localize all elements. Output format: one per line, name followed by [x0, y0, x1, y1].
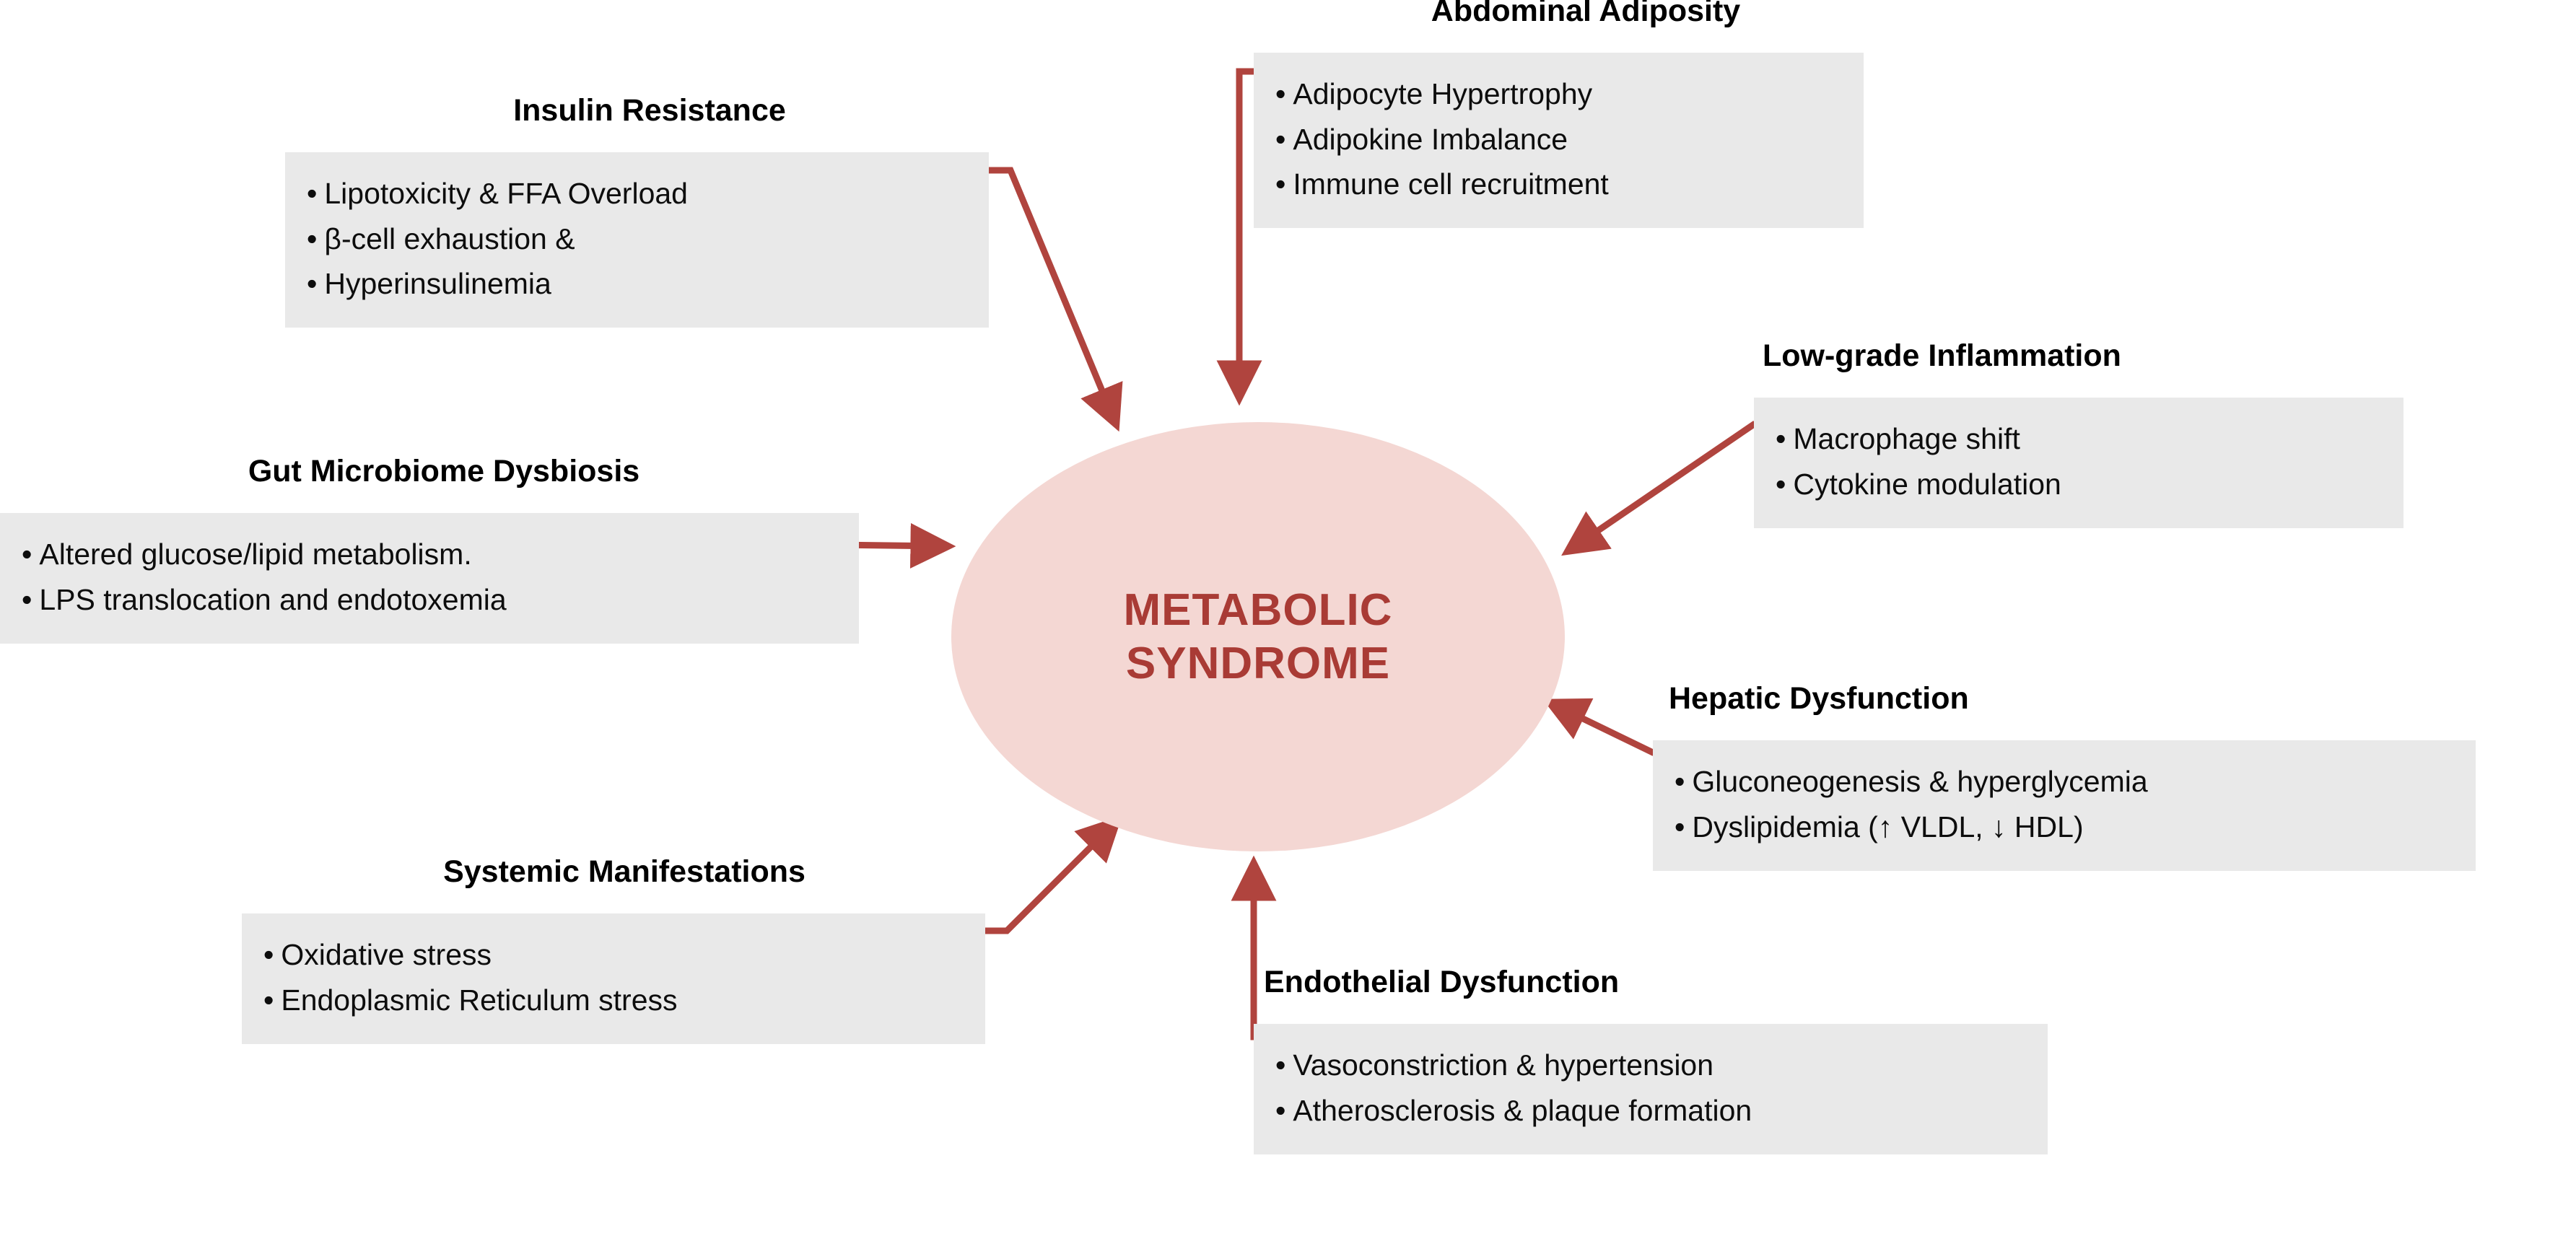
bullet-icon: •	[1675, 810, 1692, 843]
bullet-text: Endoplasmic Reticulum stress	[281, 983, 677, 1017]
bullet-icon: •	[263, 983, 281, 1017]
bullet-icon: •	[1776, 422, 1793, 455]
list-item: •Oxidative stress	[263, 932, 964, 977]
bullet-icon: •	[1275, 123, 1293, 156]
hub-label-line-2: SYNDROME	[1126, 637, 1390, 690]
bullet-icon: •	[1275, 1094, 1293, 1127]
node-box-abdominal-adiposity: •Adipocyte Hypertrophy •Adipokine Imbala…	[1254, 53, 1864, 228]
bullet-icon: •	[1675, 765, 1692, 798]
bullet-text: Cytokine modulation	[1793, 468, 2061, 501]
bullet-text: Immune cell recruitment	[1293, 167, 1608, 201]
list-item: •Cytokine modulation	[1776, 462, 2382, 507]
list-item: •LPS translocation and endotoxemia	[22, 577, 837, 622]
list-item: •Hyperinsulinemia	[307, 261, 967, 306]
diagram-canvas: METABOLIC SYNDROME Insulin Resistance •L…	[0, 0, 2576, 1236]
node-box-hepatic-dysfunction: •Gluconeogenesis & hyperglycemia •Dyslip…	[1653, 740, 2476, 871]
bullet-icon: •	[1776, 468, 1793, 501]
title-rule-spacer-gut-microbiome-dysbiosis	[14, 488, 873, 513]
list-item: •β-cell exhaustion &	[307, 216, 967, 261]
bullet-icon: •	[22, 583, 39, 616]
central-hub-metabolic-syndrome: METABOLIC SYNDROME	[951, 422, 1565, 851]
list-item: •Endoplasmic Reticulum stress	[263, 978, 964, 1022]
bullet-text: Oxidative stress	[281, 938, 492, 971]
bullet-icon: •	[307, 267, 324, 300]
node-insulin-resistance[interactable]: Insulin Resistance •Lipotoxicity & FFA O…	[285, 94, 1014, 328]
bullet-text: Altered glucose/lipid metabolism.	[39, 538, 471, 571]
node-box-insulin-resistance: •Lipotoxicity & FFA Overload •β-cell exh…	[285, 152, 989, 328]
list-item: •Gluconeogenesis & hyperglycemia	[1675, 759, 2454, 804]
node-title-endothelial-dysfunction: Endothelial Dysfunction	[1254, 965, 2062, 999]
list-item: •Adipocyte Hypertrophy	[1275, 71, 1842, 116]
bullet-list-low-grade-inflammation: •Macrophage shift •Cytokine modulation	[1776, 416, 2382, 507]
bullet-text: Adipocyte Hypertrophy	[1293, 77, 1592, 110]
list-item: •Atherosclerosis & plaque formation	[1275, 1088, 2026, 1133]
bullet-icon: •	[1275, 167, 1293, 201]
node-box-systemic-manifestations: •Oxidative stress •Endoplasmic Reticulum…	[242, 913, 985, 1044]
node-gut-microbiome-dysbiosis[interactable]: Gut Microbiome Dysbiosis •Altered glucos…	[14, 455, 873, 644]
node-box-low-grade-inflammation: •Macrophage shift •Cytokine modulation	[1754, 398, 2403, 528]
bullet-list-systemic-manifestations: •Oxidative stress •Endoplasmic Reticulum…	[263, 932, 964, 1022]
node-title-systemic-manifestations: Systemic Manifestations	[242, 855, 1007, 889]
title-rule-spacer-systemic-manifestations	[242, 889, 1007, 913]
bullet-icon: •	[307, 177, 324, 210]
node-title-gut-microbiome-dysbiosis: Gut Microbiome Dysbiosis	[14, 455, 873, 488]
node-systemic-manifestations[interactable]: Systemic Manifestations •Oxidative stres…	[242, 855, 1007, 1044]
title-rule-spacer-endothelial-dysfunction	[1254, 999, 2062, 1024]
title-rule-spacer-low-grade-inflammation	[1754, 373, 2548, 398]
list-item: •Lipotoxicity & FFA Overload	[307, 171, 967, 216]
node-title-insulin-resistance: Insulin Resistance	[285, 94, 1014, 128]
bullet-list-gut-microbiome-dysbiosis: •Altered glucose/lipid metabolism. •LPS …	[22, 532, 837, 622]
bullet-text: Hyperinsulinemia	[324, 267, 551, 300]
bullet-text: Lipotoxicity & FFA Overload	[324, 177, 688, 210]
node-hepatic-dysfunction[interactable]: Hepatic Dysfunction •Gluconeogenesis & h…	[1653, 682, 2570, 871]
node-endothelial-dysfunction[interactable]: Endothelial Dysfunction •Vasoconstrictio…	[1254, 965, 2062, 1154]
hub-label-line-1: METABOLIC	[1124, 584, 1393, 636]
bullet-list-hepatic-dysfunction: •Gluconeogenesis & hyperglycemia •Dyslip…	[1675, 759, 2454, 849]
node-abdominal-adiposity[interactable]: Abdominal Adiposity •Adipocyte Hypertrop…	[1254, 0, 1918, 228]
node-box-gut-microbiome-dysbiosis: •Altered glucose/lipid metabolism. •LPS …	[0, 513, 859, 644]
bullet-text: Vasoconstriction & hypertension	[1293, 1048, 1713, 1082]
node-box-endothelial-dysfunction: •Vasoconstriction & hypertension •Athero…	[1254, 1024, 2048, 1154]
node-title-hepatic-dysfunction: Hepatic Dysfunction	[1653, 682, 2570, 716]
bullet-icon: •	[307, 222, 324, 255]
bullet-text: Gluconeogenesis & hyperglycemia	[1692, 765, 2147, 798]
list-item: •Macrophage shift	[1776, 416, 2382, 461]
bullet-list-endothelial-dysfunction: •Vasoconstriction & hypertension •Athero…	[1275, 1043, 2026, 1133]
bullet-text: LPS translocation and endotoxemia	[39, 583, 506, 616]
node-title-low-grade-inflammation: Low-grade Inflammation	[1754, 339, 2548, 373]
bullet-text: Atherosclerosis & plaque formation	[1293, 1094, 1752, 1127]
bullet-list-insulin-resistance: •Lipotoxicity & FFA Overload •β-cell exh…	[307, 171, 967, 306]
list-item: •Adipokine Imbalance	[1275, 117, 1842, 162]
bullet-text: Dyslipidemia (↑ VLDL, ↓ HDL)	[1692, 810, 2083, 843]
bullet-list-abdominal-adiposity: •Adipocyte Hypertrophy •Adipokine Imbala…	[1275, 71, 1842, 206]
title-rule-spacer-insulin-resistance	[285, 128, 1014, 152]
bullet-icon: •	[263, 938, 281, 971]
list-item: •Vasoconstriction & hypertension	[1275, 1043, 2026, 1087]
title-rule-spacer-hepatic-dysfunction	[1653, 716, 2570, 740]
bullet-text: Adipokine Imbalance	[1293, 123, 1568, 156]
title-rule-spacer-abdominal-adiposity	[1254, 28, 1918, 53]
bullet-text: β-cell exhaustion &	[324, 222, 575, 255]
list-item: •Immune cell recruitment	[1275, 162, 1842, 206]
bullet-icon: •	[1275, 77, 1293, 110]
list-item: •Altered glucose/lipid metabolism.	[22, 532, 837, 577]
node-title-abdominal-adiposity: Abdominal Adiposity	[1254, 0, 1918, 28]
list-item: •Dyslipidemia (↑ VLDL, ↓ HDL)	[1675, 805, 2454, 849]
bullet-icon: •	[22, 538, 39, 571]
node-low-grade-inflammation[interactable]: Low-grade Inflammation •Macrophage shift…	[1754, 339, 2548, 528]
bullet-text: Macrophage shift	[1793, 422, 2020, 455]
bullet-icon: •	[1275, 1048, 1293, 1082]
